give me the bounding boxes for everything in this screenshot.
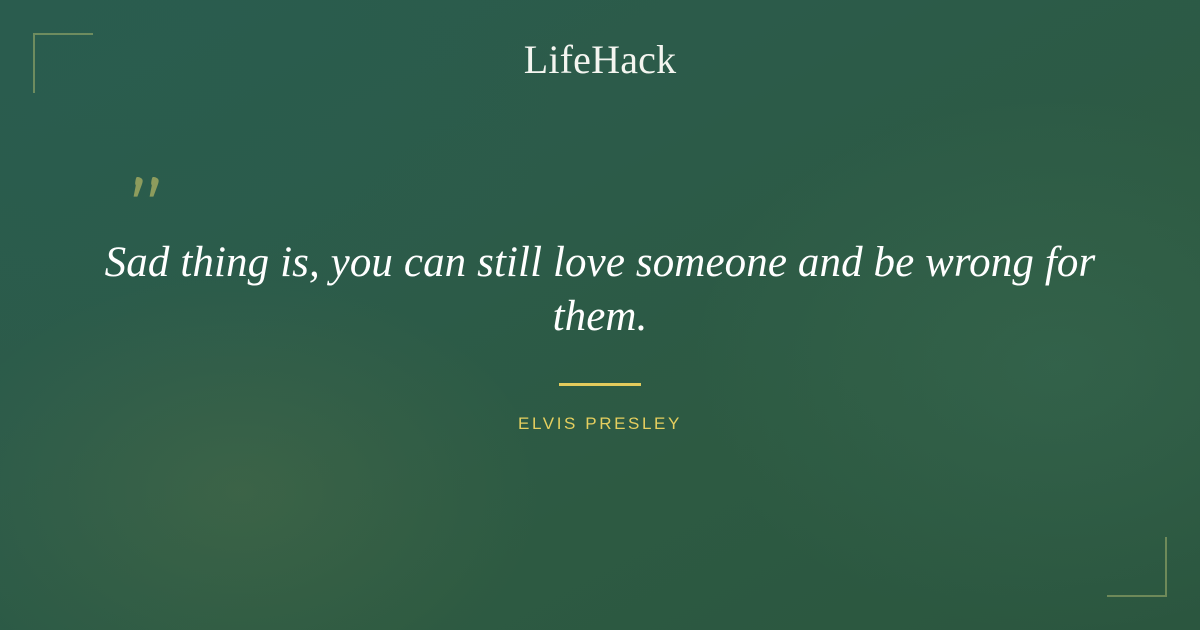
quote-text-line-2: them. <box>553 293 648 340</box>
brand-logo: LifeHack <box>0 39 1200 81</box>
corner-bracket-bottom-right-icon <box>1107 537 1167 597</box>
quote-text: Sad thing is, you can still love someone… <box>100 236 1100 344</box>
quote-text-line-1: Sad thing is, you can still love someone… <box>105 239 1096 286</box>
quote-card: LifeHack Sad thing is, you can still lov… <box>0 0 1200 630</box>
quote-author: ELVIS PRESLEY <box>0 414 1200 434</box>
gold-divider <box>559 383 641 386</box>
quote-open-icon <box>128 156 188 216</box>
